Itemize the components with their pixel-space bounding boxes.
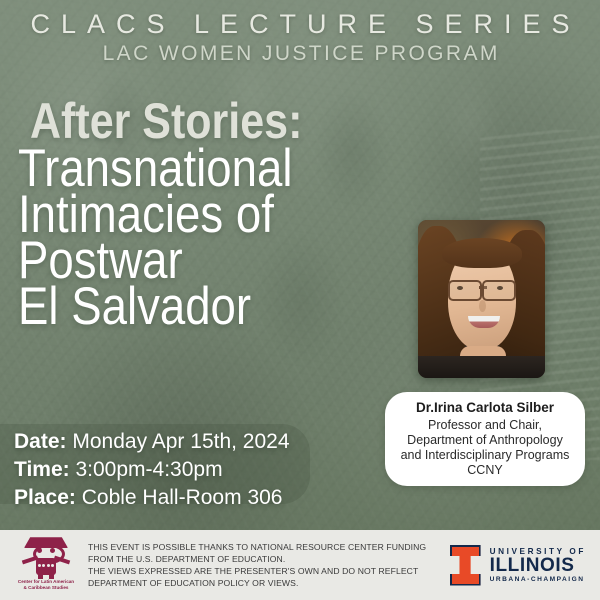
- disclaimer-line-2: FROM THE U.S. DEPARTMENT OF EDUCATION.: [88, 553, 450, 565]
- glasses-icon: [446, 280, 518, 297]
- series-title: CLACS LECTURE SERIES: [0, 10, 600, 38]
- title-line-1: After Stories:: [30, 100, 364, 144]
- place-label: Place:: [14, 486, 76, 509]
- speaker-role-line-3: and Interdisciplinary Programs: [401, 448, 570, 463]
- illinois-block-i-icon: [450, 545, 481, 586]
- portrait-shoulders: [418, 356, 545, 378]
- place-value: Coble Hall-Room 306: [82, 486, 283, 509]
- event-details: Date: Monday Apr 15th, 2024 Time: 3:00pm…: [14, 428, 290, 512]
- speaker-role-line-1: Professor and Chair,: [428, 418, 542, 433]
- university-of-illinois-logo: UNIVERSITY OF ILLINOIS URBANA-CHAMPAIGN: [450, 545, 586, 586]
- detail-row-place: Place: Coble Hall-Room 306: [14, 484, 290, 512]
- detail-row-date: Date: Monday Apr 15th, 2024: [14, 428, 290, 456]
- clacs-figure-icon: [20, 536, 72, 578]
- clacs-body-dots: [38, 564, 54, 568]
- glasses-lens-left: [448, 280, 482, 301]
- speaker-affiliation: CCNY: [467, 463, 502, 478]
- time-label: Time:: [14, 458, 70, 481]
- poster-header: CLACS LECTURE SERIES LAC WOMEN JUSTICE P…: [0, 10, 600, 66]
- speaker-portrait: [418, 220, 545, 378]
- speaker-info-panel: Dr.Irina Carlota Silber Professor and Ch…: [385, 392, 585, 486]
- portrait-fringe: [442, 238, 522, 268]
- detail-row-time: Time: 3:00pm-4:30pm: [14, 456, 290, 484]
- illinois-line-3: URBANA-CHAMPAIGN: [490, 576, 586, 583]
- glasses-lens-right: [482, 280, 516, 301]
- disclaimer-line-1: THIS EVENT IS POSSIBLE THANKS TO NATIONA…: [88, 541, 450, 553]
- clacs-logo: Center for Latin American & Caribbean St…: [14, 536, 78, 594]
- clacs-caption: Center for Latin American & Caribbean St…: [18, 579, 74, 590]
- program-subtitle: LAC WOMEN JUSTICE PROGRAM: [0, 42, 600, 66]
- illinois-wordmark: UNIVERSITY OF ILLINOIS URBANA-CHAMPAIGN: [490, 547, 586, 583]
- date-label: Date:: [14, 430, 67, 453]
- lecture-title: After Stories: Transnational Intimacies …: [18, 100, 418, 330]
- disclaimer-line-4: DEPARTMENT OF EDUCATION POLICY OR VIEWS.: [88, 577, 450, 589]
- poster-footer: Center for Latin American & Caribbean St…: [0, 530, 600, 600]
- portrait-nose: [479, 300, 486, 312]
- time-value: 3:00pm-4:30pm: [75, 458, 222, 481]
- speaker-role-line-2: Department of Anthropology: [407, 433, 563, 448]
- disclaimer-line-3: THE VIEWS EXPRESSED ARE THE PRESENTER'S …: [88, 565, 450, 577]
- clacs-arm-right: [54, 556, 70, 565]
- clacs-caption-line-1: Center for Latin American: [18, 579, 74, 585]
- clacs-leg-right: [49, 573, 54, 579]
- funding-disclaimer: THIS EVENT IS POSSIBLE THANKS TO NATIONA…: [88, 541, 450, 590]
- illinois-line-2: ILLINOIS: [490, 556, 586, 575]
- clacs-eyes: [37, 548, 55, 553]
- event-poster: CLACS LECTURE SERIES LAC WOMEN JUSTICE P…: [0, 0, 600, 600]
- date-value: Monday Apr 15th, 2024: [72, 430, 289, 453]
- speaker-name: Dr.Irina Carlota Silber: [416, 400, 554, 417]
- clacs-leg-left: [38, 573, 43, 579]
- clacs-caption-line-2: & Caribbean Studies: [18, 585, 74, 591]
- title-line-5: El Salvador: [18, 284, 362, 330]
